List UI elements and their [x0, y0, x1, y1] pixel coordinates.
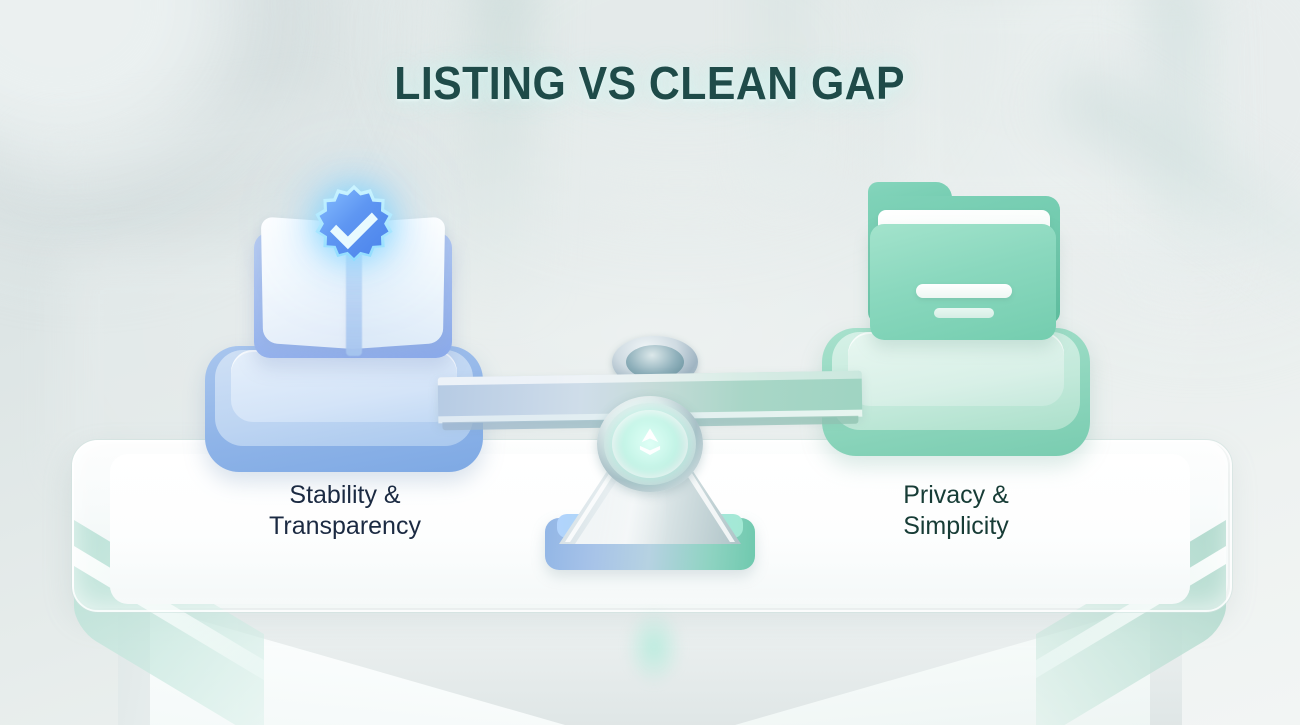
right-label-line-1: Privacy & — [830, 480, 1082, 511]
left-side-label: Stability & Transparency — [214, 480, 476, 541]
left-label-line-1: Stability & — [214, 480, 476, 511]
verified-book-icon — [248, 190, 458, 365]
chevron-down-emblem-icon — [612, 410, 688, 478]
folder-line-primary — [916, 284, 1012, 298]
page-title: LISTING VS CLEAN GAP — [395, 56, 906, 110]
right-side-label: Privacy & Simplicity — [830, 480, 1082, 541]
folder-line-secondary — [934, 308, 994, 318]
fulcrum-pedestal — [545, 400, 755, 570]
verified-check-badge-icon — [307, 182, 401, 276]
fulcrum-pivot — [597, 396, 703, 492]
scene-root: LISTING VS CLEAN GAP — [0, 0, 1300, 725]
folder-front-panel — [870, 224, 1056, 340]
folder-icon — [868, 196, 1064, 348]
left-label-line-2: Transparency — [214, 511, 476, 542]
title-container: LISTING VS CLEAN GAP — [0, 56, 1300, 110]
right-label-line-2: Simplicity — [830, 511, 1082, 542]
